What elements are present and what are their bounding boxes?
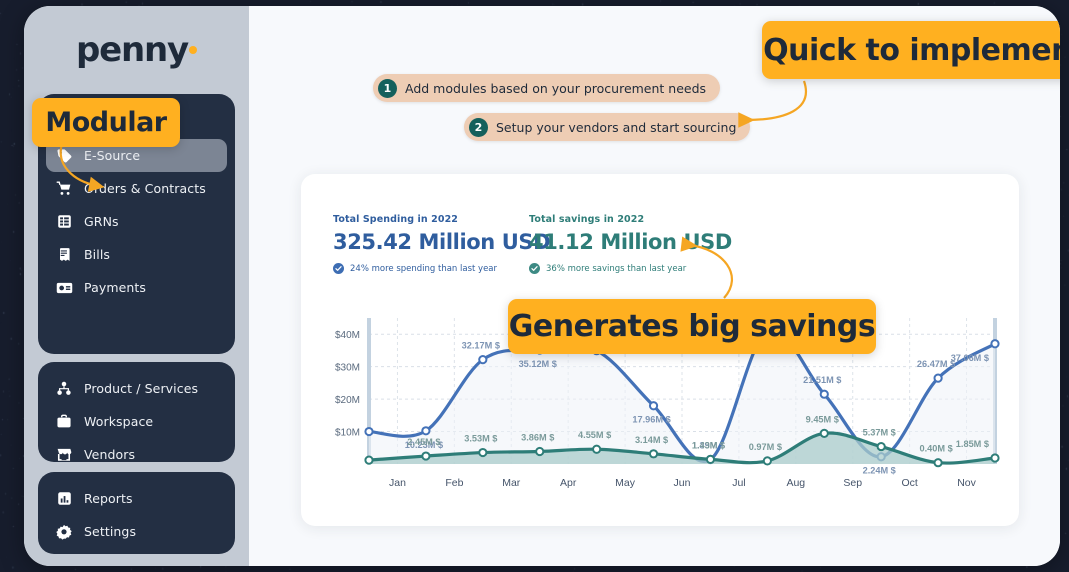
sidebar-item-grns[interactable]: GRNs <box>46 205 227 238</box>
data-point[interactable] <box>479 449 486 456</box>
data-point[interactable] <box>821 391 828 398</box>
data-point[interactable] <box>422 427 429 434</box>
data-point[interactable] <box>479 356 486 363</box>
data-point[interactable] <box>593 446 600 453</box>
bar-chart-icon <box>54 490 74 508</box>
hierarchy-icon <box>54 380 74 398</box>
sidebar-item-workspace[interactable]: Workspace <box>46 405 227 438</box>
data-point-label: 21.51M $ <box>803 375 841 385</box>
stat-total-savings: Total savings in 2022 41.12 Million USD … <box>529 214 725 274</box>
data-point[interactable] <box>821 430 828 437</box>
data-point[interactable] <box>365 457 372 464</box>
check-circle-icon <box>529 263 540 274</box>
x-axis-tick-label: Jul <box>732 477 745 489</box>
data-point-label: 37.06M $ <box>951 353 989 363</box>
stat-caption: Total savings in 2022 <box>529 214 725 225</box>
sidebar-item-label: E-Source <box>84 148 140 163</box>
callout-modular: Modular <box>32 98 180 147</box>
stat-caption: Total Spending in 2022 <box>333 214 529 225</box>
step-pill-2[interactable]: 2 Setup your vendors and start sourcing <box>464 113 750 141</box>
step-pill-1[interactable]: 1 Add modules based on your procurement … <box>373 74 720 102</box>
step-text: Setup your vendors and start sourcing <box>496 120 736 135</box>
sidebar-item-orders-contracts[interactable]: Orders & Contracts <box>46 172 227 205</box>
sidebar-group-system: ReportsSettings <box>38 472 235 554</box>
sidebar-item-label: Vendors <box>84 447 135 462</box>
sidebar-item-label: Bills <box>84 247 110 262</box>
callout-generates-big-savings: Generates big savings <box>508 299 876 354</box>
brand-dot-icon <box>189 46 197 54</box>
data-point-label: 3.53M $ <box>464 434 497 444</box>
y-axis-tick-label: $30M <box>335 363 360 374</box>
data-point[interactable] <box>650 450 657 457</box>
x-axis-tick-label: Oct <box>901 477 917 489</box>
sidebar-item-label: Payments <box>84 280 146 295</box>
receipt-icon <box>54 246 74 264</box>
data-point-label: 3.86M $ <box>521 432 554 442</box>
sidebar-item-label: GRNs <box>84 214 119 229</box>
data-point[interactable] <box>365 428 372 435</box>
y-axis-tick-label: $20M <box>335 395 360 406</box>
x-axis-tick-label: Apr <box>560 477 577 489</box>
data-point[interactable] <box>934 375 941 382</box>
stat-value: 41.12 Million USD <box>529 230 725 254</box>
sidebar-item-label: Workspace <box>84 414 153 429</box>
stat-value: 325.42 Million USD <box>333 230 529 254</box>
data-point-label: 17.96M $ <box>632 415 670 425</box>
step-number-badge: 2 <box>469 118 488 137</box>
data-point-label: 35.12M $ <box>519 359 557 369</box>
stat-subtext: 24% more spending than last year <box>350 264 497 274</box>
x-axis-tick-label: Jan <box>389 477 406 489</box>
x-axis-tick-label: Nov <box>957 477 976 489</box>
data-point-label: 26.47M $ <box>917 359 955 369</box>
data-point-label: 0.40M $ <box>919 444 952 454</box>
briefcase-icon <box>54 413 74 431</box>
data-point-label: 1.85M $ <box>956 439 989 449</box>
x-axis-tick-label: Jun <box>674 477 691 489</box>
callout-quick-to-implement: Quick to implement <box>762 21 1060 79</box>
step-text: Add modules based on your procurement ne… <box>405 81 706 96</box>
data-point[interactable] <box>991 340 998 347</box>
sidebar-item-label: Settings <box>84 524 136 539</box>
data-point-label: 5.37M $ <box>863 428 896 438</box>
app-window: penny RequestE-SourceOrders & ContractsG… <box>24 6 1060 566</box>
payment-icon <box>54 279 74 297</box>
stat-subtext-row: 36% more savings than last year <box>529 263 725 274</box>
x-axis-tick-label: Mar <box>502 477 521 489</box>
gear-icon <box>54 523 74 541</box>
data-point-label: 0.97M $ <box>749 442 782 452</box>
sidebar-item-product-services[interactable]: Product / Services <box>46 372 227 405</box>
stat-total-spending: Total Spending in 2022 325.42 Million US… <box>333 214 529 274</box>
data-point[interactable] <box>422 452 429 459</box>
data-point-label: 2.45M $ <box>407 437 440 447</box>
sidebar-item-payments[interactable]: Payments <box>46 271 227 304</box>
y-axis-tick-label: $10M <box>335 428 360 439</box>
stats-row: Total Spending in 2022 325.42 Million US… <box>333 214 725 274</box>
data-point[interactable] <box>991 454 998 461</box>
sidebar-group-secondary: Product / ServicesWorkspaceVendors <box>38 362 235 462</box>
data-point-label: 4.55M $ <box>578 430 611 440</box>
data-point-label: 9.45M $ <box>806 414 839 424</box>
step-number-badge: 1 <box>378 79 397 98</box>
data-point-label: 3.14M $ <box>635 435 668 445</box>
x-axis-tick-label: Aug <box>786 477 805 489</box>
sidebar-item-label: Product / Services <box>84 381 198 396</box>
tag-icon <box>54 147 74 165</box>
sidebar: penny RequestE-SourceOrders & ContractsG… <box>24 6 249 566</box>
sidebar-item-reports[interactable]: Reports <box>46 482 227 515</box>
sidebar-item-bills[interactable]: Bills <box>46 238 227 271</box>
grid-icon <box>54 213 74 231</box>
x-axis-tick-label: May <box>615 477 636 489</box>
data-point[interactable] <box>764 457 771 464</box>
cart-icon <box>54 180 74 198</box>
sidebar-item-settings[interactable]: Settings <box>46 515 227 548</box>
check-circle-icon <box>333 263 344 274</box>
x-axis-tick-label: Feb <box>445 477 463 489</box>
store-icon <box>54 446 74 464</box>
x-axis-tick-label: Sep <box>843 477 862 489</box>
sidebar-item-vendors[interactable]: Vendors <box>46 438 227 471</box>
data-point[interactable] <box>934 459 941 466</box>
y-axis-tick-label: $40M <box>335 330 360 341</box>
data-point[interactable] <box>650 402 657 409</box>
stat-subtext-row: 24% more spending than last year <box>333 263 529 274</box>
brand-name: penny <box>76 30 188 70</box>
data-point-label: 1.43M $ <box>692 440 725 450</box>
sidebar-item-label: Orders & Contracts <box>84 181 206 196</box>
data-point[interactable] <box>878 443 885 450</box>
main-content: 1 Add modules based on your procurement … <box>249 6 1060 566</box>
stat-subtext: 36% more savings than last year <box>546 264 686 274</box>
sidebar-item-label: Reports <box>84 491 133 506</box>
data-point[interactable] <box>536 448 543 455</box>
data-point[interactable] <box>707 456 714 463</box>
data-point-label: 32.17M $ <box>462 341 500 351</box>
brand-logo: penny <box>24 24 249 76</box>
data-point-label: 2.24M $ <box>863 466 896 476</box>
